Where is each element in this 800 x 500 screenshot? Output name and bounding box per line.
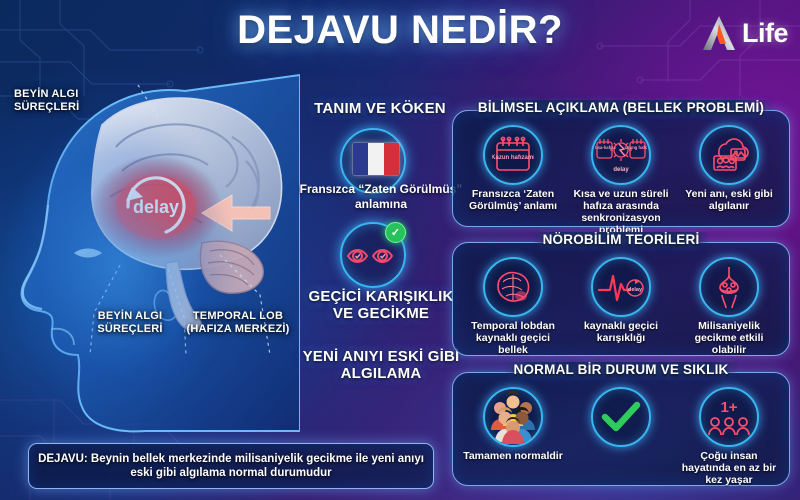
label-brain-perception-top: BEYİN ALGISÜREÇLERİ <box>14 88 124 114</box>
eyes-check-icon-ring: ✓ <box>340 222 406 288</box>
france-flag-icon <box>352 142 400 176</box>
caption-temporal-lobe: Temporal lobdan kaynaklı geçici bellek <box>459 320 567 356</box>
people-group-glyph <box>486 390 540 444</box>
calendar-memory-icon: Kazun hafızamı <box>483 125 543 185</box>
caption-memory-sync: Kısa ve uzun süreli hafıza arasında senk… <box>567 188 675 236</box>
caption-group-people: Tamamen normaldir <box>461 450 565 462</box>
delay-icon-text: delay <box>613 167 629 173</box>
synapse-icon <box>699 257 759 317</box>
ekg-delay-icon: delay <box>591 257 651 317</box>
section-title-definition: TANIM VE KÖKEN <box>300 100 460 117</box>
head-glow-decoration <box>0 65 280 475</box>
check-glyph <box>601 400 641 434</box>
summary-banner-text: DEJAVU: Beynin bellek merkezinde milisan… <box>29 452 433 480</box>
panel-scientific-explanation: BİLİMSEL AÇIKLAMA (BELLEK PROBLEMİ) Kazu… <box>452 110 790 227</box>
memory-sync-glyph: Kısa-hafıza Uzung hafıza delay <box>595 133 647 177</box>
brain-glyph <box>490 266 536 308</box>
group-of-people-icon <box>483 387 543 447</box>
panel-neuroscience-theories: NÖROBİLİM TEORİLERİ Tempora <box>452 242 790 356</box>
caption-calendar-memory: Fransızca ‘Zaten Görülmüş’ anlamı <box>459 188 567 212</box>
short-memory-icon-text: Kısa-hafıza <box>595 145 616 150</box>
panel-normal-frequency: NORMAL BİR DURUM VE SIKLIK <box>452 372 790 486</box>
ekg-glyph: delay <box>596 266 646 308</box>
brand-logo: Life <box>700 14 788 52</box>
ekg-delay-text: delay <box>628 287 643 293</box>
cell-synapse: Milisaniyelik gecikme etkili olabilir <box>675 257 783 349</box>
cell-memory-sync: Kısa-hafıza Uzung hafıza delay Kısa ve u… <box>567 125 675 220</box>
caption-one-plus-people: Çoğu insan hayatında en az bir kez yaşar <box>675 450 783 486</box>
infographic-canvas: delay DEJAVU NEDİR? <box>0 0 800 500</box>
page-title: DEJAVU NEDİR? <box>200 8 600 53</box>
head-brain-illustration: delay <box>0 55 300 485</box>
cell-one-plus-people: 1+ Çoğu insan hayatında en az bir kez ya… <box>675 387 783 479</box>
memory-sync-delay-icon: Kısa-hafıza Uzung hafıza delay <box>591 125 651 185</box>
cell-calendar-memory: Kazun hafızamı Fransızca ‘Zaten Görülmüş… <box>459 125 567 220</box>
section-title-new-memory: YENİ ANIYI ESKİ GİBİ ALGILAMA <box>298 348 464 382</box>
caption-definition: Fransızca “Zaten Görülmüş” anlamına <box>296 182 466 212</box>
one-plus-people-icon: 1+ <box>699 387 759 447</box>
calendar-icon-text-line1: Kazun hafızamı <box>492 155 534 161</box>
a-mark-icon <box>700 14 740 52</box>
logo-text: Life <box>742 18 788 49</box>
cloud-photo-people-icon <box>699 125 759 185</box>
section-title-temporary-confusion: GEÇİCİ KARIŞIKLIK VE GECİKME <box>298 288 464 322</box>
brain-temporal-lobe-icon <box>483 257 543 317</box>
label-temporal-lobe: TEMPORAL LOB(HAFIZA MERKEZİ) <box>176 310 300 336</box>
cloud-photo-glyph <box>707 134 751 176</box>
cell-ekg-delay: delay kaynaklı geçici karışıklığı <box>567 257 675 349</box>
caption-cloud-memory: Yeni anı, eski gibi algılanır <box>675 188 783 212</box>
synapse-glyph <box>709 265 749 309</box>
cell-temporal-lobe: Temporal lobdan kaynaklı geçici bellek <box>459 257 567 349</box>
cell-cloud-memory: Yeni anı, eski gibi algılanır <box>675 125 783 220</box>
long-memory-icon-text: Uzung hafıza <box>625 145 647 150</box>
caption-synapse: Milisaniyelik gecikme etkili olabilir <box>675 320 783 356</box>
one-plus-text: 1+ <box>720 399 737 416</box>
one-plus-glyph: 1+ <box>706 395 752 439</box>
cell-group-people: Tamamen normaldir <box>459 387 567 479</box>
green-check-badge-icon: ✓ <box>385 222 406 243</box>
green-check-icon <box>591 387 651 447</box>
cell-green-check <box>567 387 675 479</box>
label-brain-perception-bottom: BEYİN ALGISÜREÇLERİ <box>84 310 176 336</box>
caption-ekg-delay: kaynaklı geçici karışıklığı <box>567 320 675 344</box>
summary-banner: DEJAVU: Beynin bellek merkezinde milisan… <box>28 443 434 489</box>
calendar-glyph: Kazun hafızamı <box>492 135 534 175</box>
